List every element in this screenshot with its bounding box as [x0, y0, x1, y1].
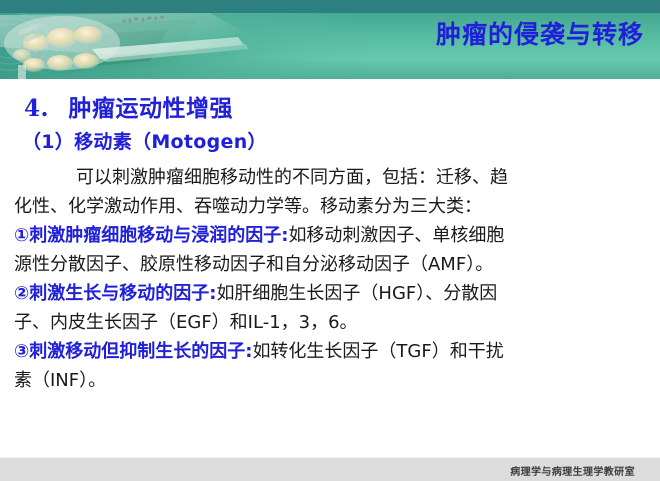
section-heading-number: 4.: [24, 95, 49, 122]
subsection-heading: （1）移动素（Motogen）: [22, 132, 267, 153]
slide-title: 肿瘤的侵袭与转移: [436, 22, 644, 47]
surgical-lamp-photo: [0, 13, 370, 79]
list-item-2-rest: 如肝细胞生长因子（HGF）、分散因: [216, 283, 497, 304]
list-item-3-line-2: 素（INF）。: [14, 366, 654, 395]
paragraph-line-1-text: 可以刺激肿瘤细胞移动性的不同方面，包括：迁移、趋: [76, 167, 508, 188]
body-text: 可以刺激肿瘤细胞移动性的不同方面，包括：迁移、趋 化性、化学激动作用、吞噬动力学…: [14, 163, 654, 395]
list-item-1-line-2: 源性分散因子、胶原性移动因子和自分泌移动因子（AMF）。: [14, 250, 654, 279]
section-heading-text: 肿瘤运动性增强: [69, 96, 234, 122]
list-item-2-line-2: 子、内皮生长因子（EGF）和IL-1，3，6。: [14, 308, 654, 337]
list-item-2-line-1: ②刺激生长与移动的因子:如肝细胞生长因子（HGF）、分散因: [14, 279, 654, 308]
paragraph-line-2: 化性、化学激动作用、吞噬动力学等。移动素分为三大类：: [14, 192, 654, 221]
section-heading: 4. 肿瘤运动性增强: [24, 96, 233, 122]
paragraph-line-1: 可以刺激肿瘤细胞移动性的不同方面，包括：迁移、趋: [14, 163, 654, 192]
header-top-strip: [0, 0, 660, 13]
list-item-2-lead: ②刺激生长与移动的因子:: [14, 283, 216, 304]
list-item-1-lead: ①刺激肿瘤细胞移动与浸润的因子:: [14, 225, 288, 246]
list-item-1-line-1: ①刺激肿瘤细胞移动与浸润的因子:如移动刺激因子、单核细胞: [14, 221, 654, 250]
slide-footer: 病理学与病理生理学教研室: [0, 457, 660, 481]
list-item-3-rest: 如转化生长因子（TGF）和干扰: [252, 341, 503, 362]
slide-canvas: 肿瘤的侵袭与转移 4. 肿瘤运动性增强 （1）移动素（Motogen） 可以刺激…: [0, 0, 660, 480]
footer-department-label: 病理学与病理生理学教研室: [510, 463, 635, 478]
list-item-3-lead: ③刺激移动但抑制生长的因子:: [14, 341, 252, 362]
list-item-1-rest: 如移动刺激因子、单核细胞: [288, 225, 504, 246]
list-item-3-line-1: ③刺激移动但抑制生长的因子:如转化生长因子（TGF）和干扰: [14, 337, 654, 366]
slide-content: 4. 肿瘤运动性增强 （1）移动素（Motogen） 可以刺激肿瘤细胞移动性的不…: [0, 79, 660, 457]
slide-header: 肿瘤的侵袭与转移: [0, 0, 660, 79]
